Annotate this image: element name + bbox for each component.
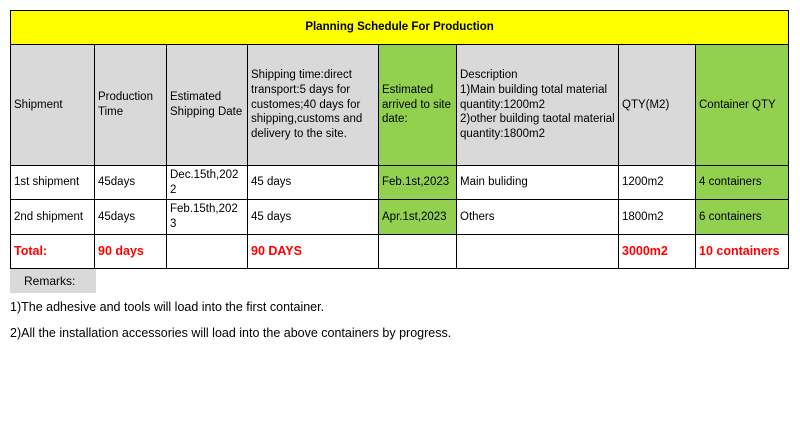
cell-total-qty-m2: 3000m2: [619, 234, 696, 268]
description-header-line-3: 2)other building taotal material quantit…: [460, 112, 615, 141]
cell-total-estimated-shipping-date: [167, 234, 248, 268]
planning-schedule-table: Planning Schedule For Production Shipmen…: [10, 10, 789, 269]
cell-total-estimated-arrived: [379, 234, 457, 268]
column-header-shipment: Shipment: [11, 45, 95, 166]
cell-shipping-time: 45 days: [248, 200, 379, 234]
cell-total-container-qty: 10 containers: [696, 234, 789, 268]
cell-estimated-shipping-date: Feb.15th,2023: [167, 200, 248, 234]
cell-production-time: 45days: [95, 200, 167, 234]
cell-qty-m2: 1800m2: [619, 200, 696, 234]
cell-production-time: 45days: [95, 166, 167, 200]
remarks-label: Remarks:: [10, 269, 96, 293]
table-total-row: Total: 90 days 90 DAYS 3000m2 10 contain…: [11, 234, 789, 268]
table-header-row: Shipment Production Time Estimated Shipp…: [11, 45, 789, 166]
cell-description: Others: [457, 200, 619, 234]
cell-shipping-time: 45 days: [248, 166, 379, 200]
remark-item-1: 1)The adhesive and tools will load into …: [10, 300, 324, 314]
spreadsheet-canvas: Planning Schedule For Production Shipmen…: [0, 0, 800, 440]
cell-total-label: Total:: [11, 234, 95, 268]
page-title: Planning Schedule For Production: [11, 11, 789, 45]
cell-total-production-time: 90 days: [95, 234, 167, 268]
cell-total-shipping-time: 90 DAYS: [248, 234, 379, 268]
column-header-production-time: Production Time: [95, 45, 167, 166]
description-header-line-1: Description: [460, 68, 615, 83]
table-row: 1st shipment 45days Dec.15th,2022 45 day…: [11, 166, 789, 200]
cell-estimated-arrived: Feb.1st,2023: [379, 166, 457, 200]
table-row: 2nd shipment 45days Feb.15th,2023 45 day…: [11, 200, 789, 234]
cell-description: Main buliding: [457, 166, 619, 200]
column-header-description: Description 1)Main building total materi…: [457, 45, 619, 166]
cell-qty-m2: 1200m2: [619, 166, 696, 200]
table-title-row: Planning Schedule For Production: [11, 11, 789, 45]
description-header-line-2: 1)Main building total material quantity:…: [460, 83, 615, 112]
column-header-estimated-shipping-date: Estimated Shipping Date: [167, 45, 248, 166]
cell-container-qty: 4 containers: [696, 166, 789, 200]
cell-shipment: 1st shipment: [11, 166, 95, 200]
column-header-qty-m2: QTY(M2): [619, 45, 696, 166]
cell-shipment: 2nd shipment: [11, 200, 95, 234]
column-header-shipping-time: Shipping time:direct transport:5 days fo…: [248, 45, 379, 166]
cell-estimated-shipping-date: Dec.15th,2022: [167, 166, 248, 200]
column-header-estimated-arrived-to-site-date: Estimated arrived to site date:: [379, 45, 457, 166]
cell-container-qty: 6 containers: [696, 200, 789, 234]
cell-total-description: [457, 234, 619, 268]
column-header-container-qty: Container QTY: [696, 45, 789, 166]
cell-estimated-arrived: Apr.1st,2023: [379, 200, 457, 234]
remark-item-2: 2)All the installation accessories will …: [10, 326, 451, 340]
